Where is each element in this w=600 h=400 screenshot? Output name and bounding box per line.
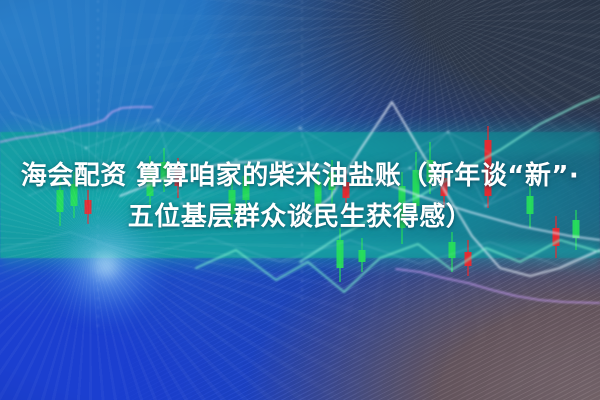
banner-image: 海会配资 算算咱家的柴米油盐账（新年谈“新”· 五位基层群众谈民生获得感） [0, 0, 600, 400]
vignette-overlay [0, 0, 600, 400]
